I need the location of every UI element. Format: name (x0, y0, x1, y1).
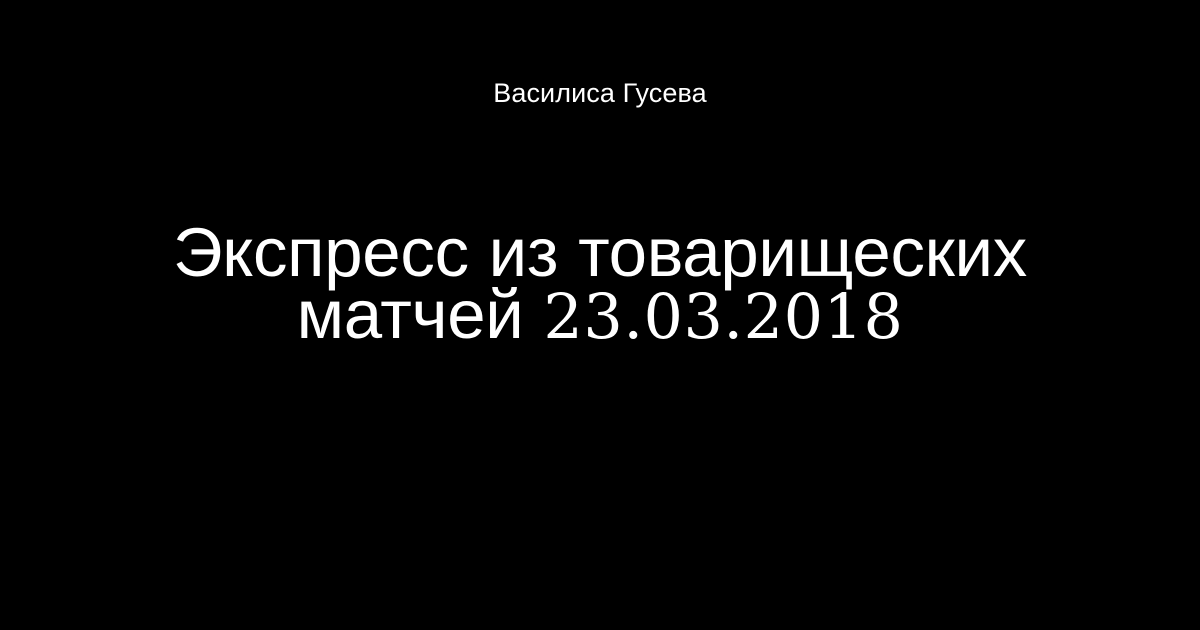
headline-block: Экспресс из товарищеских матчей 23.03.20… (60, 222, 1140, 348)
page-title: Экспресс из товарищеских матчей 23.03.20… (60, 222, 1140, 348)
author-byline: Василиса Гусева (0, 76, 1200, 110)
share-preview-card: Василиса Гусева Экспресс из товарищеских… (0, 0, 1200, 630)
headline-date: 23.03.2018 (543, 280, 903, 353)
